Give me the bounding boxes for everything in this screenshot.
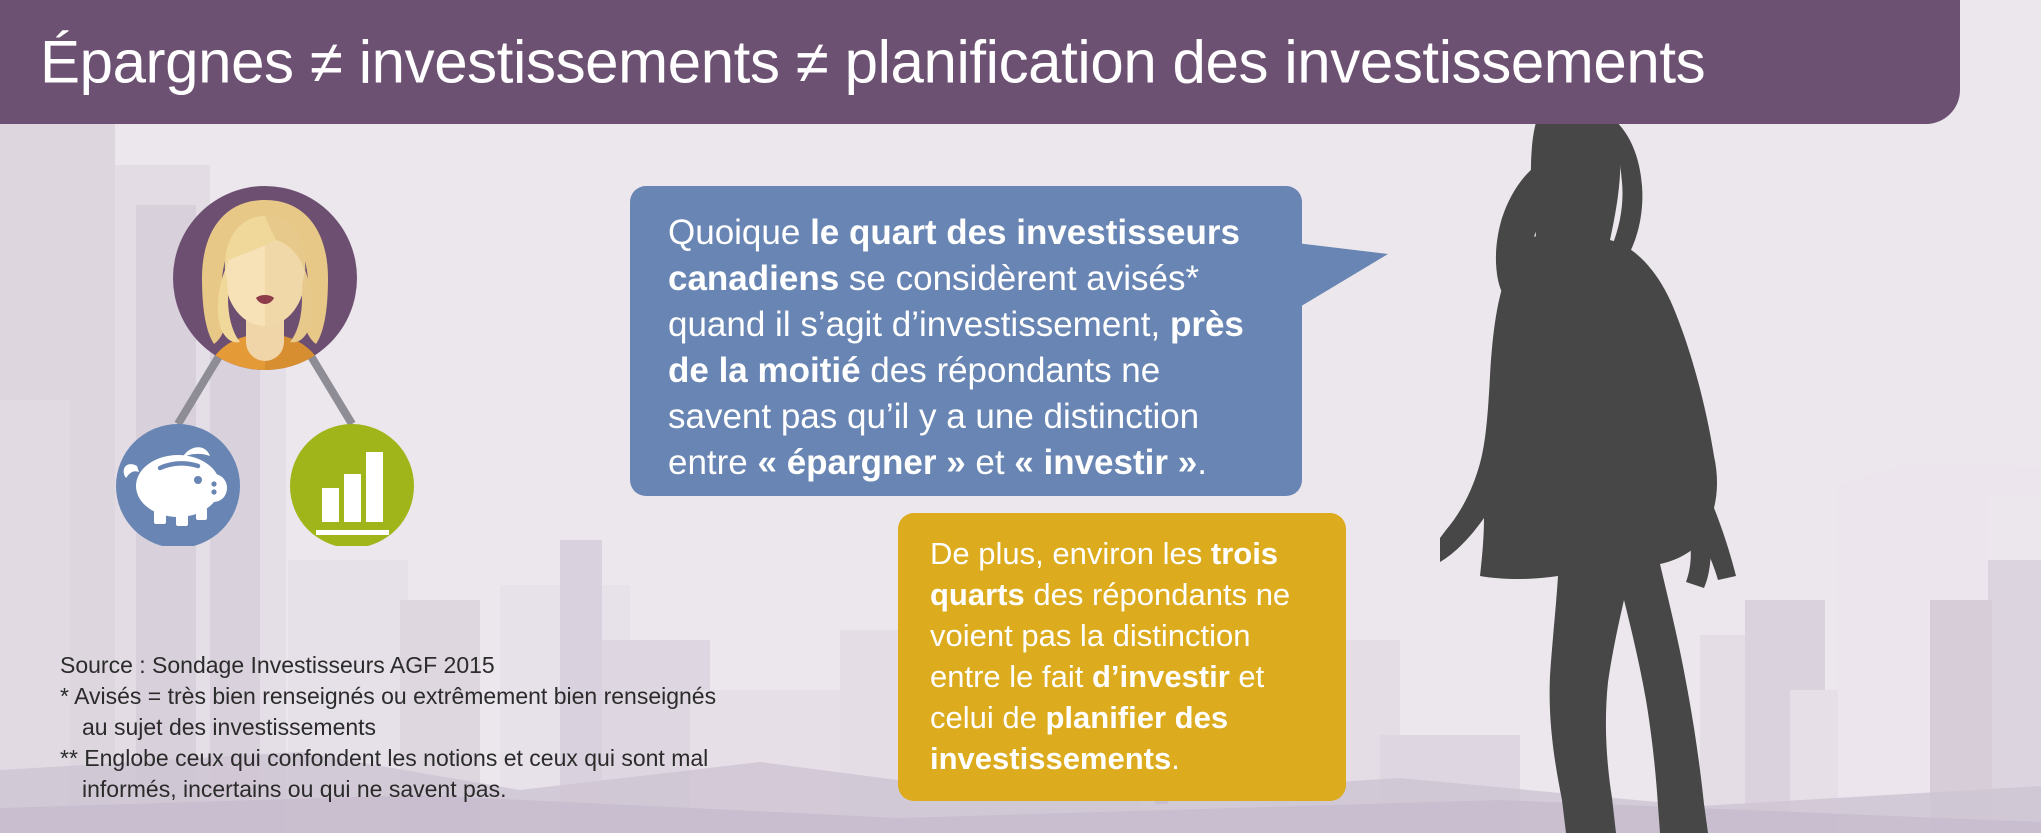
blue-seg-0: Quoique <box>668 213 810 252</box>
blue-bubble-tail <box>1288 242 1388 314</box>
infographic-canvas: Épargnes ≠ investissements ≠ planificati… <box>0 0 2041 833</box>
page-title: Épargnes ≠ investissements ≠ planificati… <box>40 28 1705 97</box>
blue-bubble-text: Quoique le quart des investisseurs canad… <box>630 186 1302 486</box>
woman-silhouette-icon <box>1440 60 1770 833</box>
yellow-bubble-text: De plus, environ les trois quarts des ré… <box>898 513 1346 779</box>
yellow-speech-bubble: De plus, environ les trois quarts des ré… <box>898 513 1346 801</box>
blue-seg-7: « investir » <box>1014 443 1197 482</box>
blue-seg-8: . <box>1197 443 1207 482</box>
footnote-asterisk-line1: * Avisés = très bien renseignés ou extrê… <box>60 681 820 712</box>
footnotes-block: Source : Sondage Investisseurs AGF 2015 … <box>60 650 820 805</box>
icon-cluster <box>90 186 480 546</box>
piggy-bank-icon <box>116 424 240 546</box>
footnote-asterisk-line2: au sujet des investissements <box>60 712 820 743</box>
blue-speech-bubble: Quoique le quart des investisseurs canad… <box>630 186 1302 496</box>
blue-seg-6: et <box>966 443 1015 482</box>
yellow-seg-0: De plus, environ les <box>930 536 1211 571</box>
yellow-seg-3: d’investir <box>1092 659 1230 694</box>
footnote-double-asterisk-line2: informés, incertains ou qui ne savent pa… <box>60 774 820 805</box>
source-line: Source : Sondage Investisseurs AGF 2015 <box>60 650 820 681</box>
footnote-double-asterisk-line1: ** Englobe ceux qui confondent les notio… <box>60 743 820 774</box>
blue-seg-5: « épargner » <box>758 443 966 482</box>
bar-chart-icon <box>290 424 414 546</box>
yellow-seg-6: . <box>1171 741 1180 776</box>
header-banner: Épargnes ≠ investissements ≠ planificati… <box>0 0 1960 124</box>
